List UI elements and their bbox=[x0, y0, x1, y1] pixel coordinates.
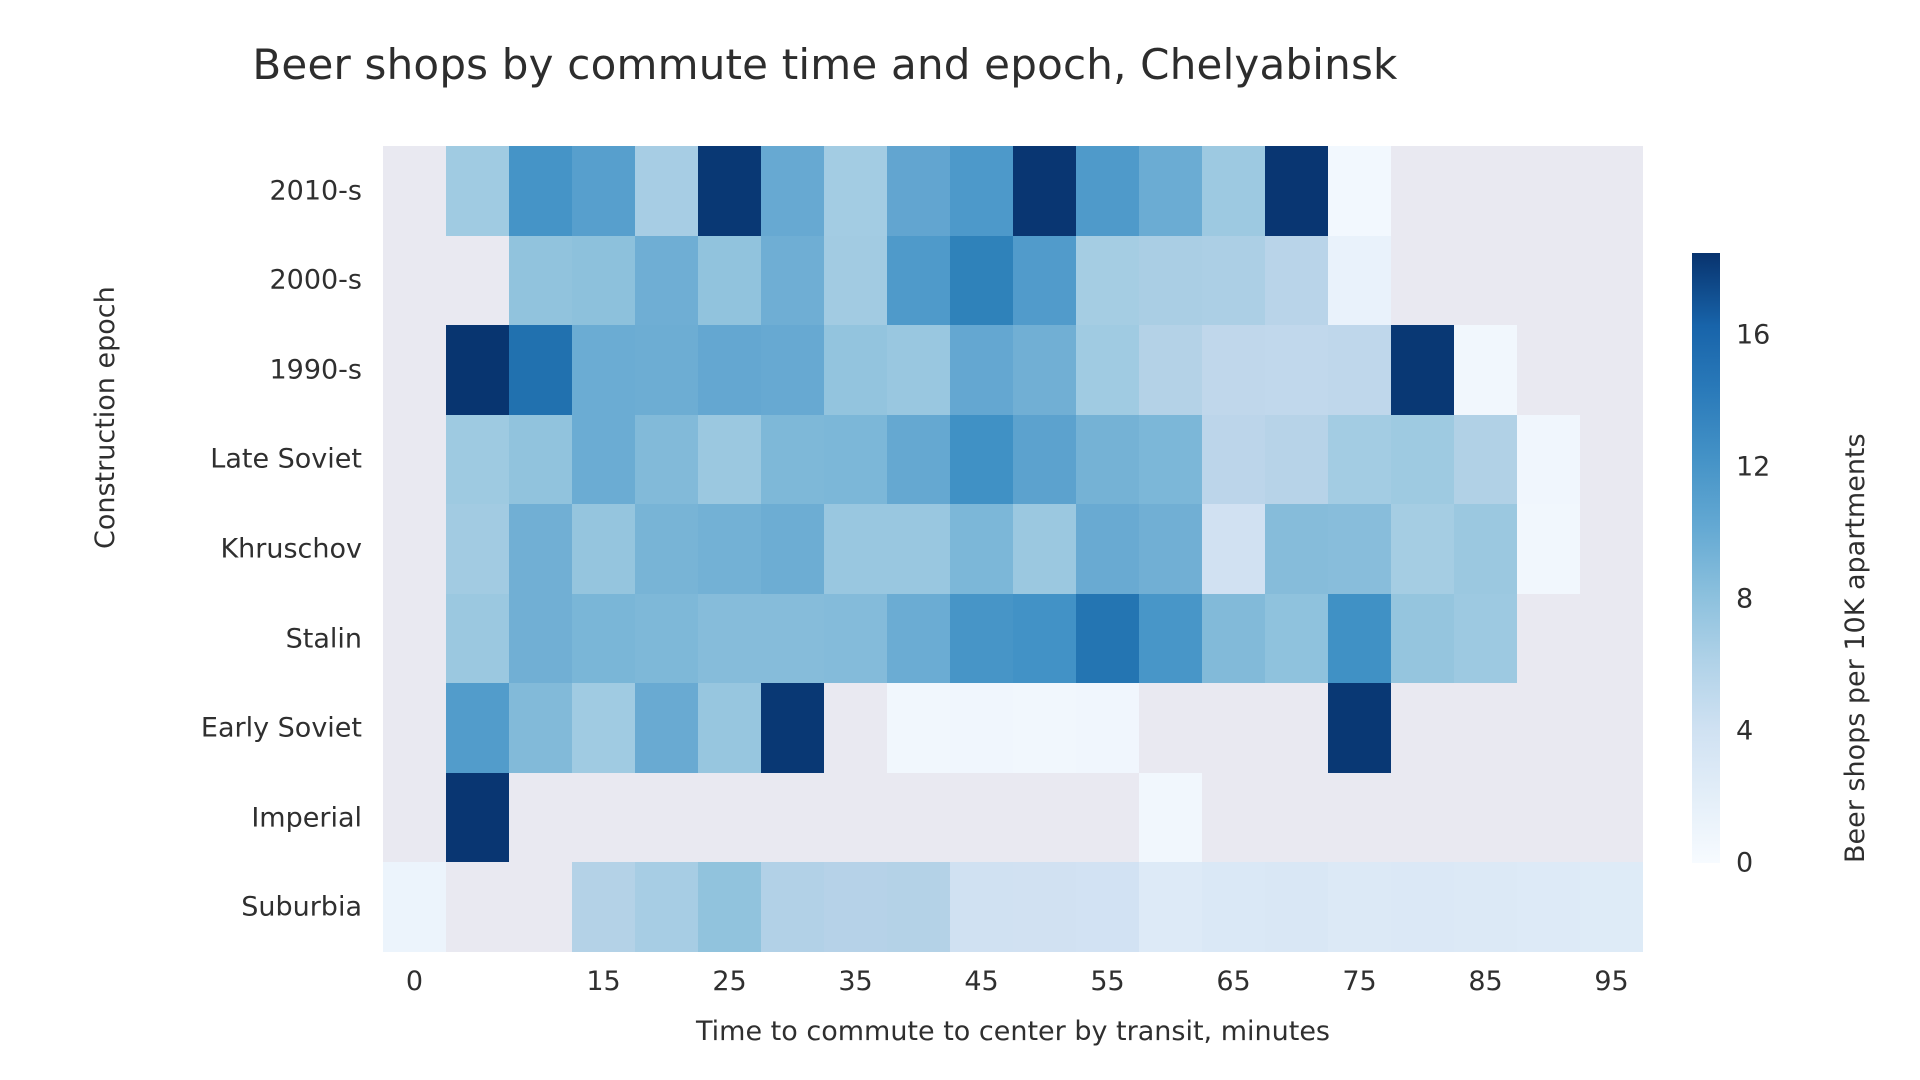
heatmap-cell bbox=[383, 236, 446, 326]
heatmap-cell bbox=[824, 683, 887, 773]
heatmap-cell bbox=[1013, 504, 1076, 594]
heatmap-cell bbox=[1265, 773, 1328, 863]
y-axis-tick-label: Stalin bbox=[0, 623, 362, 654]
heatmap-cell bbox=[824, 325, 887, 415]
heatmap-cell bbox=[1013, 325, 1076, 415]
heatmap-cell bbox=[1454, 504, 1517, 594]
heatmap-cell bbox=[1391, 146, 1454, 236]
heatmap-cell bbox=[1139, 236, 1202, 326]
heatmap-cell bbox=[509, 862, 572, 952]
heatmap-cell bbox=[1454, 415, 1517, 505]
heatmap-cell bbox=[1076, 504, 1139, 594]
heatmap-cell bbox=[383, 504, 446, 594]
heatmap-cell bbox=[1328, 146, 1391, 236]
heatmap-cell bbox=[950, 862, 1013, 952]
heatmap-cell bbox=[950, 594, 1013, 684]
heatmap-row bbox=[383, 683, 1643, 773]
y-axis-tick-labels: 2010-s2000-s1990-sLate SovietKhruschovSt… bbox=[0, 146, 362, 952]
heatmap-cell bbox=[635, 236, 698, 326]
heatmap-cell bbox=[446, 146, 509, 236]
heatmap-cell bbox=[572, 773, 635, 863]
heatmap-cell bbox=[1517, 773, 1580, 863]
heatmap-cell bbox=[761, 862, 824, 952]
heatmap-cell bbox=[950, 683, 1013, 773]
heatmap-cell bbox=[572, 594, 635, 684]
x-axis-tick-label: 55 bbox=[1090, 966, 1124, 997]
heatmap-cell bbox=[950, 325, 1013, 415]
heatmap-row bbox=[383, 862, 1643, 952]
heatmap-cell bbox=[1076, 683, 1139, 773]
heatmap-cell bbox=[1202, 683, 1265, 773]
heatmap-cell bbox=[698, 325, 761, 415]
heatmap-cell bbox=[509, 773, 572, 863]
heatmap-cell bbox=[761, 236, 824, 326]
heatmap-cell bbox=[383, 594, 446, 684]
heatmap-cell bbox=[1013, 146, 1076, 236]
heatmap-cell bbox=[1391, 773, 1454, 863]
heatmap-grid bbox=[383, 146, 1643, 952]
heatmap-cell bbox=[698, 683, 761, 773]
heatmap-row bbox=[383, 146, 1643, 236]
heatmap-cell bbox=[635, 325, 698, 415]
heatmap-cell bbox=[509, 146, 572, 236]
heatmap-cell bbox=[383, 325, 446, 415]
heatmap-cell bbox=[509, 683, 572, 773]
heatmap-cell bbox=[824, 415, 887, 505]
heatmap-cell bbox=[887, 236, 950, 326]
heatmap-cell bbox=[1202, 862, 1265, 952]
heatmap-cell bbox=[1202, 594, 1265, 684]
heatmap-cell bbox=[1202, 325, 1265, 415]
heatmap-cell bbox=[950, 415, 1013, 505]
heatmap-cell bbox=[1328, 415, 1391, 505]
heatmap-cell bbox=[1454, 236, 1517, 326]
heatmap-cell bbox=[761, 594, 824, 684]
heatmap-row bbox=[383, 325, 1643, 415]
heatmap-cell bbox=[446, 325, 509, 415]
heatmap-cell bbox=[1391, 325, 1454, 415]
heatmap-cell bbox=[1013, 683, 1076, 773]
x-axis-tick-label: 25 bbox=[712, 966, 746, 997]
heatmap-cell bbox=[1391, 594, 1454, 684]
heatmap-cell bbox=[698, 594, 761, 684]
heatmap-cell bbox=[572, 504, 635, 594]
heatmap-cell bbox=[1580, 862, 1643, 952]
y-axis-tick-label: Early Soviet bbox=[0, 713, 362, 744]
x-axis-tick-label: 85 bbox=[1468, 966, 1502, 997]
heatmap-cell bbox=[446, 236, 509, 326]
heatmap-cell bbox=[761, 325, 824, 415]
heatmap-cell bbox=[635, 683, 698, 773]
heatmap-cell bbox=[1517, 236, 1580, 326]
heatmap-cell bbox=[1517, 415, 1580, 505]
heatmap-cell bbox=[950, 146, 1013, 236]
heatmap-cell bbox=[1580, 236, 1643, 326]
heatmap-cell bbox=[824, 862, 887, 952]
heatmap-cell bbox=[761, 773, 824, 863]
heatmap-cell bbox=[950, 236, 1013, 326]
heatmap-cell bbox=[1454, 773, 1517, 863]
heatmap-cell bbox=[950, 773, 1013, 863]
heatmap-cell bbox=[1265, 504, 1328, 594]
heatmap-cell bbox=[1076, 594, 1139, 684]
y-axis-tick-label: 2010-s bbox=[0, 175, 362, 206]
heatmap-cell bbox=[1328, 236, 1391, 326]
heatmap-cell bbox=[698, 862, 761, 952]
colorbar-tick-label: 4 bbox=[1736, 716, 1753, 747]
heatmap-cell bbox=[824, 504, 887, 594]
heatmap-cell bbox=[446, 862, 509, 952]
y-axis-tick-label: Late Soviet bbox=[0, 444, 362, 475]
heatmap-cell bbox=[572, 146, 635, 236]
heatmap-row bbox=[383, 773, 1643, 863]
x-axis-tick-label: 15 bbox=[586, 966, 620, 997]
heatmap-cell bbox=[1265, 594, 1328, 684]
heatmap-cell bbox=[1328, 504, 1391, 594]
heatmap-cell bbox=[572, 415, 635, 505]
heatmap-cell bbox=[1202, 504, 1265, 594]
heatmap-cell bbox=[887, 146, 950, 236]
heatmap-cell bbox=[1076, 146, 1139, 236]
heatmap-cell bbox=[1139, 504, 1202, 594]
heatmap-cell bbox=[1076, 862, 1139, 952]
y-axis-tick-label: Khruschov bbox=[0, 534, 362, 565]
heatmap-cell bbox=[887, 773, 950, 863]
heatmap-cell bbox=[1265, 146, 1328, 236]
heatmap-cell bbox=[1580, 146, 1643, 236]
colorbar-title: Beer shops per 10K apartments bbox=[1840, 433, 1871, 863]
heatmap-cell bbox=[1517, 862, 1580, 952]
heatmap-cell bbox=[1076, 415, 1139, 505]
heatmap-cell bbox=[1265, 325, 1328, 415]
heatmap-cell bbox=[1580, 325, 1643, 415]
heatmap-cell bbox=[1013, 594, 1076, 684]
page-title: Beer shops by commute time and epoch, Ch… bbox=[0, 40, 1650, 89]
heatmap-cell bbox=[887, 415, 950, 505]
heatmap-cell bbox=[761, 415, 824, 505]
heatmap-cell bbox=[824, 594, 887, 684]
heatmap-cell bbox=[1328, 773, 1391, 863]
colorbar-tick-label: 0 bbox=[1736, 848, 1753, 879]
heatmap-row bbox=[383, 594, 1643, 684]
heatmap-cell bbox=[698, 773, 761, 863]
heatmap-cell bbox=[446, 683, 509, 773]
heatmap-cell bbox=[887, 683, 950, 773]
heatmap-cell bbox=[1076, 236, 1139, 326]
heatmap-cell bbox=[1391, 504, 1454, 594]
heatmap-cell bbox=[824, 773, 887, 863]
heatmap-cell bbox=[1265, 236, 1328, 326]
heatmap-cell bbox=[1391, 862, 1454, 952]
x-axis-tick-label: 95 bbox=[1594, 966, 1628, 997]
heatmap-cell bbox=[761, 504, 824, 594]
heatmap-cell bbox=[698, 504, 761, 594]
heatmap-cell bbox=[1013, 415, 1076, 505]
heatmap-cell bbox=[635, 504, 698, 594]
heatmap-cell bbox=[761, 146, 824, 236]
heatmap-figure: Beer shops by commute time and epoch, Ch… bbox=[0, 0, 1920, 1080]
x-axis-title: Time to commute to center by transit, mi… bbox=[383, 1016, 1643, 1047]
heatmap-cell bbox=[1580, 504, 1643, 594]
heatmap-cell bbox=[1139, 773, 1202, 863]
heatmap-cell bbox=[509, 594, 572, 684]
heatmap-cell bbox=[1265, 862, 1328, 952]
y-axis-tick-label: 1990-s bbox=[0, 354, 362, 385]
heatmap-cell bbox=[383, 415, 446, 505]
heatmap-cell bbox=[383, 773, 446, 863]
heatmap-cell bbox=[824, 146, 887, 236]
x-axis-tick-label: 35 bbox=[838, 966, 872, 997]
heatmap-cell bbox=[446, 415, 509, 505]
heatmap-cell bbox=[446, 594, 509, 684]
y-axis-tick-label: Suburbia bbox=[0, 892, 362, 923]
heatmap-cell bbox=[1013, 773, 1076, 863]
heatmap-cell bbox=[383, 862, 446, 952]
heatmap-cell bbox=[1454, 325, 1517, 415]
heatmap-cell bbox=[635, 146, 698, 236]
heatmap-cell bbox=[1139, 594, 1202, 684]
heatmap-cell bbox=[1265, 683, 1328, 773]
heatmap-cell bbox=[1580, 683, 1643, 773]
heatmap-cell bbox=[383, 683, 446, 773]
heatmap-cell bbox=[1580, 773, 1643, 863]
heatmap-cell bbox=[1391, 236, 1454, 326]
heatmap-row bbox=[383, 415, 1643, 505]
heatmap-cell bbox=[635, 594, 698, 684]
heatmap-cell bbox=[509, 415, 572, 505]
heatmap-cell bbox=[1391, 415, 1454, 505]
heatmap-cell bbox=[509, 236, 572, 326]
x-axis-tick-label: 75 bbox=[1342, 966, 1376, 997]
heatmap-cell bbox=[1517, 594, 1580, 684]
x-axis-tick-label: 45 bbox=[964, 966, 998, 997]
heatmap-row bbox=[383, 236, 1643, 326]
x-axis-tick-label: 0 bbox=[406, 966, 423, 997]
heatmap-cell bbox=[572, 683, 635, 773]
heatmap-cell bbox=[572, 325, 635, 415]
heatmap-cell bbox=[887, 862, 950, 952]
heatmap-cell bbox=[698, 236, 761, 326]
heatmap-cell bbox=[1013, 862, 1076, 952]
colorbar-tick-label: 8 bbox=[1736, 584, 1753, 615]
heatmap-cell bbox=[1139, 683, 1202, 773]
heatmap-cell bbox=[1202, 146, 1265, 236]
heatmap-plot-area bbox=[383, 146, 1643, 952]
heatmap-cell bbox=[1328, 862, 1391, 952]
heatmap-cell bbox=[887, 325, 950, 415]
colorbar: Beer shops per 10K apartments 0481216 bbox=[1692, 253, 1912, 863]
heatmap-cell bbox=[1076, 773, 1139, 863]
heatmap-cell bbox=[1454, 862, 1517, 952]
heatmap-cell bbox=[1454, 683, 1517, 773]
heatmap-cell bbox=[1391, 683, 1454, 773]
heatmap-row bbox=[383, 504, 1643, 594]
y-axis-tick-label: 2000-s bbox=[0, 265, 362, 296]
heatmap-cell bbox=[1580, 415, 1643, 505]
heatmap-cell bbox=[1328, 594, 1391, 684]
heatmap-cell bbox=[1517, 683, 1580, 773]
heatmap-cell bbox=[824, 236, 887, 326]
heatmap-cell bbox=[1202, 773, 1265, 863]
heatmap-cell bbox=[698, 415, 761, 505]
heatmap-cell bbox=[509, 504, 572, 594]
heatmap-cell bbox=[1013, 236, 1076, 326]
heatmap-cell bbox=[1517, 325, 1580, 415]
heatmap-cell bbox=[950, 504, 1013, 594]
heatmap-cell bbox=[1328, 683, 1391, 773]
heatmap-cell bbox=[1139, 415, 1202, 505]
heatmap-cell bbox=[1454, 594, 1517, 684]
heatmap-cell bbox=[635, 862, 698, 952]
heatmap-cell bbox=[509, 325, 572, 415]
heatmap-cell bbox=[887, 594, 950, 684]
colorbar-tick-label: 16 bbox=[1736, 320, 1770, 351]
heatmap-cell bbox=[761, 683, 824, 773]
heatmap-cell bbox=[1454, 146, 1517, 236]
heatmap-cell bbox=[635, 773, 698, 863]
x-axis-tick-label: 65 bbox=[1216, 966, 1250, 997]
heatmap-cell bbox=[383, 146, 446, 236]
colorbar-tick-label: 12 bbox=[1736, 452, 1770, 483]
heatmap-cell bbox=[1202, 415, 1265, 505]
heatmap-cell bbox=[1139, 862, 1202, 952]
heatmap-cell bbox=[1139, 146, 1202, 236]
colorbar-gradient bbox=[1692, 253, 1720, 863]
heatmap-cell bbox=[1328, 325, 1391, 415]
heatmap-cell bbox=[1202, 236, 1265, 326]
heatmap-cell bbox=[446, 773, 509, 863]
x-axis-tick-labels: 0152535455565758595 bbox=[383, 966, 1643, 1006]
heatmap-cell bbox=[572, 236, 635, 326]
heatmap-cell bbox=[1517, 504, 1580, 594]
heatmap-cell bbox=[1139, 325, 1202, 415]
heatmap-cell bbox=[635, 415, 698, 505]
heatmap-cell bbox=[1580, 594, 1643, 684]
heatmap-cell bbox=[1517, 146, 1580, 236]
y-axis-tick-label: Imperial bbox=[0, 802, 362, 833]
heatmap-cell bbox=[446, 504, 509, 594]
heatmap-cell bbox=[1265, 415, 1328, 505]
heatmap-cell bbox=[1076, 325, 1139, 415]
heatmap-cell bbox=[887, 504, 950, 594]
heatmap-cell bbox=[698, 146, 761, 236]
heatmap-cell bbox=[572, 862, 635, 952]
